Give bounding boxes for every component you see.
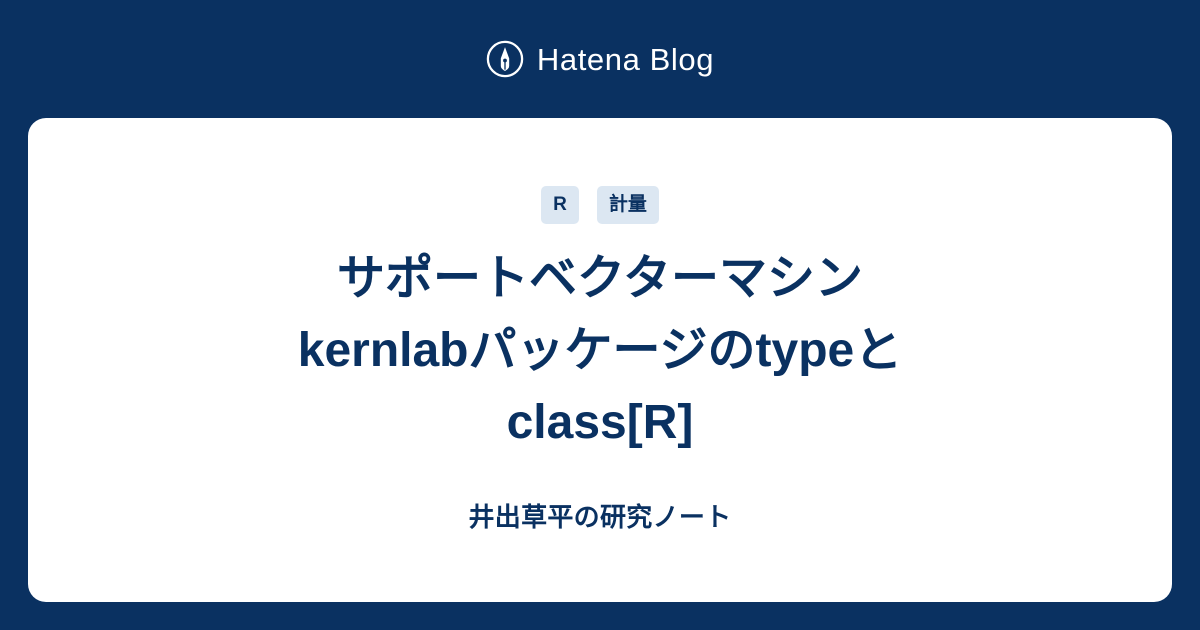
hatena-brand-name: Hatena Blog bbox=[537, 44, 714, 75]
entry-title-line: サポートベクターマシン bbox=[298, 243, 902, 315]
blog-name: 井出草平の研究ノート bbox=[468, 501, 731, 535]
entry-title-line: kernlabパッケージのtypeと bbox=[298, 315, 902, 387]
entry-title-line: class[R] bbox=[298, 387, 902, 459]
tag-list: R 計量 bbox=[541, 186, 659, 224]
hatena-pen-nib-icon bbox=[486, 40, 524, 78]
entry-title: サポートベクターマシン kernlabパッケージのtypeと class[R] bbox=[298, 243, 902, 459]
tag-item[interactable]: 計量 bbox=[597, 186, 659, 224]
og-image-card: Hatena Blog R 計量 サポートベクターマシン kernlabパッケー… bbox=[0, 0, 1200, 630]
tag-item[interactable]: R bbox=[541, 186, 579, 224]
hatena-brand-header: Hatena Blog bbox=[0, 0, 1200, 118]
entry-card: R 計量 サポートベクターマシン kernlabパッケージのtypeと clas… bbox=[28, 118, 1172, 602]
